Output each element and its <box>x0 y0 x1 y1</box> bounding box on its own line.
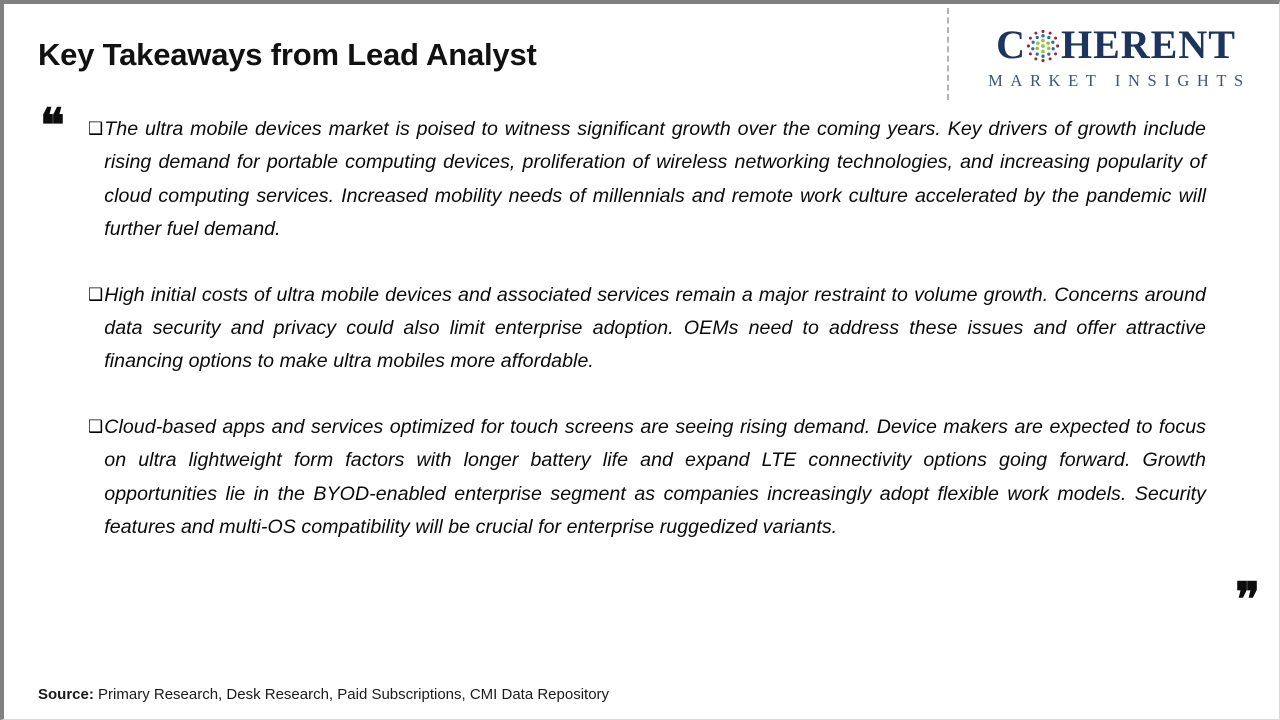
bullet-square-icon: ❑ <box>88 411 103 444</box>
source-value: Primary Research, Desk Research, Paid Su… <box>94 686 609 703</box>
list-item: ❑ Cloud-based apps and services optimize… <box>88 411 1206 545</box>
bullet-square-icon: ❑ <box>88 279 103 312</box>
source-footer: Source: Primary Research, Desk Research,… <box>38 686 609 703</box>
list-item: ❑ The ultra mobile devices market is poi… <box>88 113 1206 247</box>
logo-tagline: MARKET INSIGHTS <box>969 73 1263 90</box>
open-quote-icon: ❝ <box>40 102 65 148</box>
slide-header: Key Takeaways from Lead Analyst C <box>4 4 1279 104</box>
takeaways-list: ❑ The ultra mobile devices market is poi… <box>88 113 1206 544</box>
list-item: ❑ High initial costs of ultra mobile dev… <box>88 279 1206 379</box>
close-quote-icon: ❞ <box>1235 576 1260 622</box>
source-label: Source: <box>38 686 94 703</box>
page-title: Key Takeaways from Lead Analyst <box>38 37 537 73</box>
header-dashed-divider <box>947 8 949 100</box>
slide-canvas: Key Takeaways from Lead Analyst C <box>0 0 1280 720</box>
bullet-square-icon: ❑ <box>88 113 103 146</box>
globe-dots-icon <box>1026 29 1060 63</box>
slide-body: ❝ ❞ ❑ The ultra mobile devices market is… <box>4 104 1280 674</box>
logo-letters-herent: HERENT <box>1061 25 1236 65</box>
logo-wordmark: C <box>969 22 1263 68</box>
takeaway-text-growth-drivers: The ultra mobile devices market is poise… <box>104 113 1206 247</box>
takeaway-text-restraints: High initial costs of ultra mobile devic… <box>104 279 1206 379</box>
takeaway-text-opportunities: Cloud-based apps and services optimized … <box>104 411 1206 545</box>
logo-letter-c: C <box>996 25 1026 65</box>
company-logo: C <box>969 22 1263 90</box>
